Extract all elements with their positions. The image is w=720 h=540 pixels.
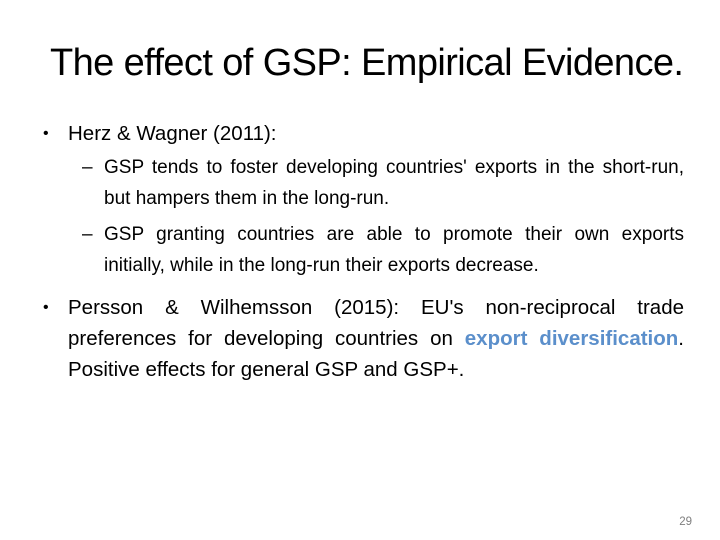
slide-canvas: The effect of GSP: Empirical Evidence. •… [0,0,720,540]
bullet-item-gsp-short-run: – GSP tends to foster developing countri… [36,152,684,214]
bullet-text: Herz & Wagner (2011): [68,122,277,145]
bullet-item-gsp-granting-countries: – GSP granting countries are able to pro… [36,219,684,281]
bullet-text: GSP tends to foster developing countries… [104,157,684,209]
bullet-text: GSP granting countries are able to promo… [104,224,684,276]
bullet-marker-icon: • [43,292,49,323]
highlighted-term-export-diversification: export diversification [465,327,679,350]
bullet-marker-icon: • [43,118,49,149]
bullet-item-persson-wilhemsson: •Persson & Wilhemsson (2015): EU's non-r… [36,292,684,385]
bullet-item-herz-wagner: • Herz & Wagner (2011): [36,118,684,149]
slide-body: • Herz & Wagner (2011): – GSP tends to f… [36,118,684,387]
page-number: 29 [679,516,692,528]
dash-marker-icon: – [82,152,93,183]
dash-marker-icon: – [82,219,93,250]
slide-title: The effect of GSP: Empirical Evidence. [50,40,670,88]
